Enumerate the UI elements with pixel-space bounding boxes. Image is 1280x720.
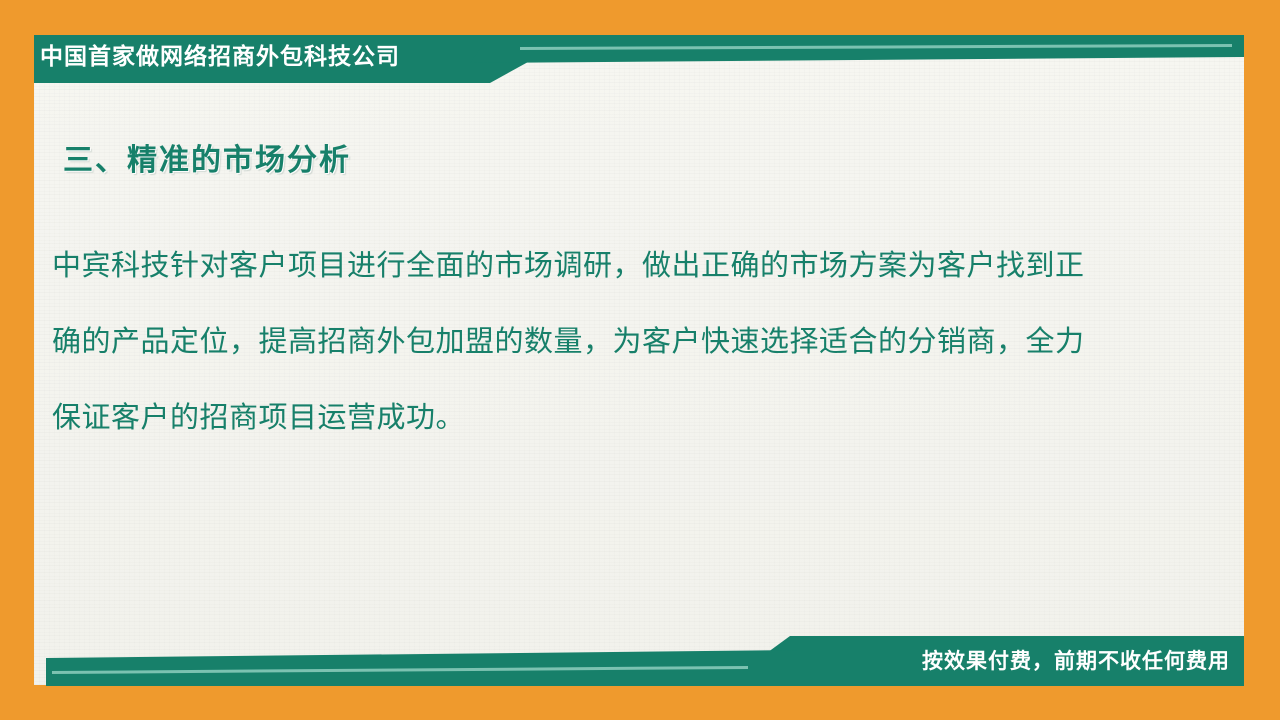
footer-tagline: 按效果付费，前期不收任何费用 [922,647,1230,677]
body-line-1: 中宾科技针对客户项目进行全面的市场调研，做出正确的市场方案为客户找到正 [52,228,1182,304]
header-banner-title: 中国首家做网络招商外包科技公司 [40,38,510,74]
body-paragraph: 中宾科技针对客户项目进行全面的市场调研，做出正确的市场方案为客户找到正 确的产品… [52,228,1182,456]
page-title: 三、精准的市场分析 [63,135,351,179]
body-line-2: 确的产品定位，提高招商外包加盟的数量，为客户快速选择适合的分销商，全力 [52,304,1182,380]
body-line-3: 保证客户的招商项目运营成功。 [52,380,1182,456]
slide-canvas: 中国首家做网络招商外包科技公司 三、精准的市场分析 中宾科技针对客户项目进行全面… [0,0,1280,720]
